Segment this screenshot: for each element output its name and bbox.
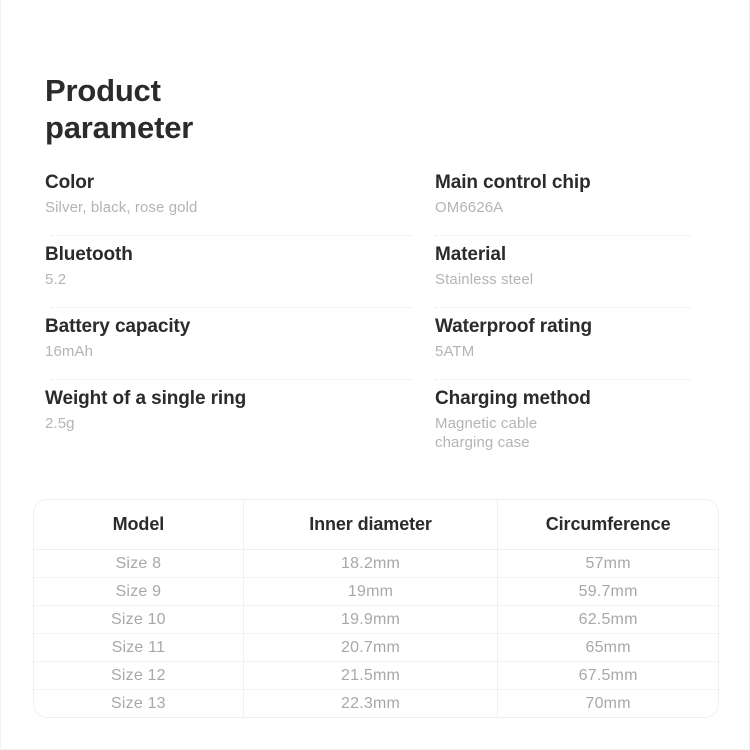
cell-circumference: 67.5mm <box>498 662 718 690</box>
table-column-header-circumference: Circumference <box>498 500 718 550</box>
spec-item-battery-capacity: Battery capacity 16mAh <box>45 314 435 386</box>
spec-item-color: Color Silver, black, rose gold <box>45 170 435 242</box>
cell-inner-diameter: 20.7mm <box>243 634 497 662</box>
spec-value-color: Silver, black, rose gold <box>45 198 435 217</box>
page-title-line-2: parameter <box>45 109 385 146</box>
spec-item-charging-method: Charging method Magnetic cable charging … <box>435 386 709 462</box>
spec-value-material: Stainless steel <box>435 270 709 289</box>
product-parameter-page: Product parameter Color Silver, black, r… <box>0 0 750 750</box>
cell-model: Size 12 <box>34 662 243 690</box>
spec-value-waterproof-rating: 5ATM <box>435 342 709 361</box>
cell-inner-diameter: 19.9mm <box>243 606 497 634</box>
table-row: Size 12 21.5mm 67.5mm <box>34 662 718 690</box>
cell-model: Size 8 <box>34 550 243 578</box>
spec-label-weight-of-a-single-ring: Weight of a single ring <box>45 386 435 411</box>
table-row: Size 13 22.3mm 70mm <box>34 690 718 718</box>
table-row: Size 11 20.7mm 65mm <box>34 634 718 662</box>
size-chart-table: Model Inner diameter Circumference Size … <box>33 499 719 718</box>
spec-value-weight-of-a-single-ring: 2.5g <box>45 414 435 433</box>
table-row: Size 10 19.9mm 62.5mm <box>34 606 718 634</box>
table-row: Size 9 19mm 59.7mm <box>34 578 718 606</box>
cell-inner-diameter: 22.3mm <box>243 690 497 718</box>
cell-inner-diameter: 18.2mm <box>243 550 497 578</box>
cell-model: Size 11 <box>34 634 243 662</box>
spec-item-material: Material Stainless steel <box>435 242 709 314</box>
cell-inner-diameter: 19mm <box>243 578 497 606</box>
spec-item-bluetooth: Bluetooth 5.2 <box>45 242 435 314</box>
spec-value-bluetooth: 5.2 <box>45 270 435 289</box>
table-column-header-inner-diameter: Inner diameter <box>243 500 497 550</box>
spec-label-color: Color <box>45 170 435 195</box>
spec-label-bluetooth: Bluetooth <box>45 242 435 267</box>
spec-item-waterproof-rating: Waterproof rating 5ATM <box>435 314 709 386</box>
spec-grid: Color Silver, black, rose gold Main cont… <box>45 170 709 462</box>
spec-label-charging-method: Charging method <box>435 386 709 411</box>
cell-model: Size 13 <box>34 690 243 718</box>
page-title-line-1: Product <box>45 72 385 109</box>
cell-inner-diameter: 21.5mm <box>243 662 497 690</box>
spec-item-main-control-chip: Main control chip OM6626A <box>435 170 709 242</box>
cell-model: Size 9 <box>34 578 243 606</box>
page-title: Product parameter <box>45 72 385 146</box>
cell-circumference: 57mm <box>498 550 718 578</box>
cell-circumference: 62.5mm <box>498 606 718 634</box>
table-header-row: Model Inner diameter Circumference <box>34 500 718 550</box>
table-column-header-model: Model <box>34 500 243 550</box>
spec-item-weight-of-a-single-ring: Weight of a single ring 2.5g <box>45 386 435 462</box>
table-row: Size 8 18.2mm 57mm <box>34 550 718 578</box>
spec-value-battery-capacity: 16mAh <box>45 342 435 361</box>
cell-circumference: 65mm <box>498 634 718 662</box>
cell-model: Size 10 <box>34 606 243 634</box>
cell-circumference: 59.7mm <box>498 578 718 606</box>
spec-label-battery-capacity: Battery capacity <box>45 314 435 339</box>
spec-value-charging-method: Magnetic cable charging case <box>435 414 709 452</box>
spec-label-material: Material <box>435 242 709 267</box>
spec-label-waterproof-rating: Waterproof rating <box>435 314 709 339</box>
spec-label-main-control-chip: Main control chip <box>435 170 709 195</box>
spec-value-main-control-chip: OM6626A <box>435 198 709 217</box>
cell-circumference: 70mm <box>498 690 718 718</box>
